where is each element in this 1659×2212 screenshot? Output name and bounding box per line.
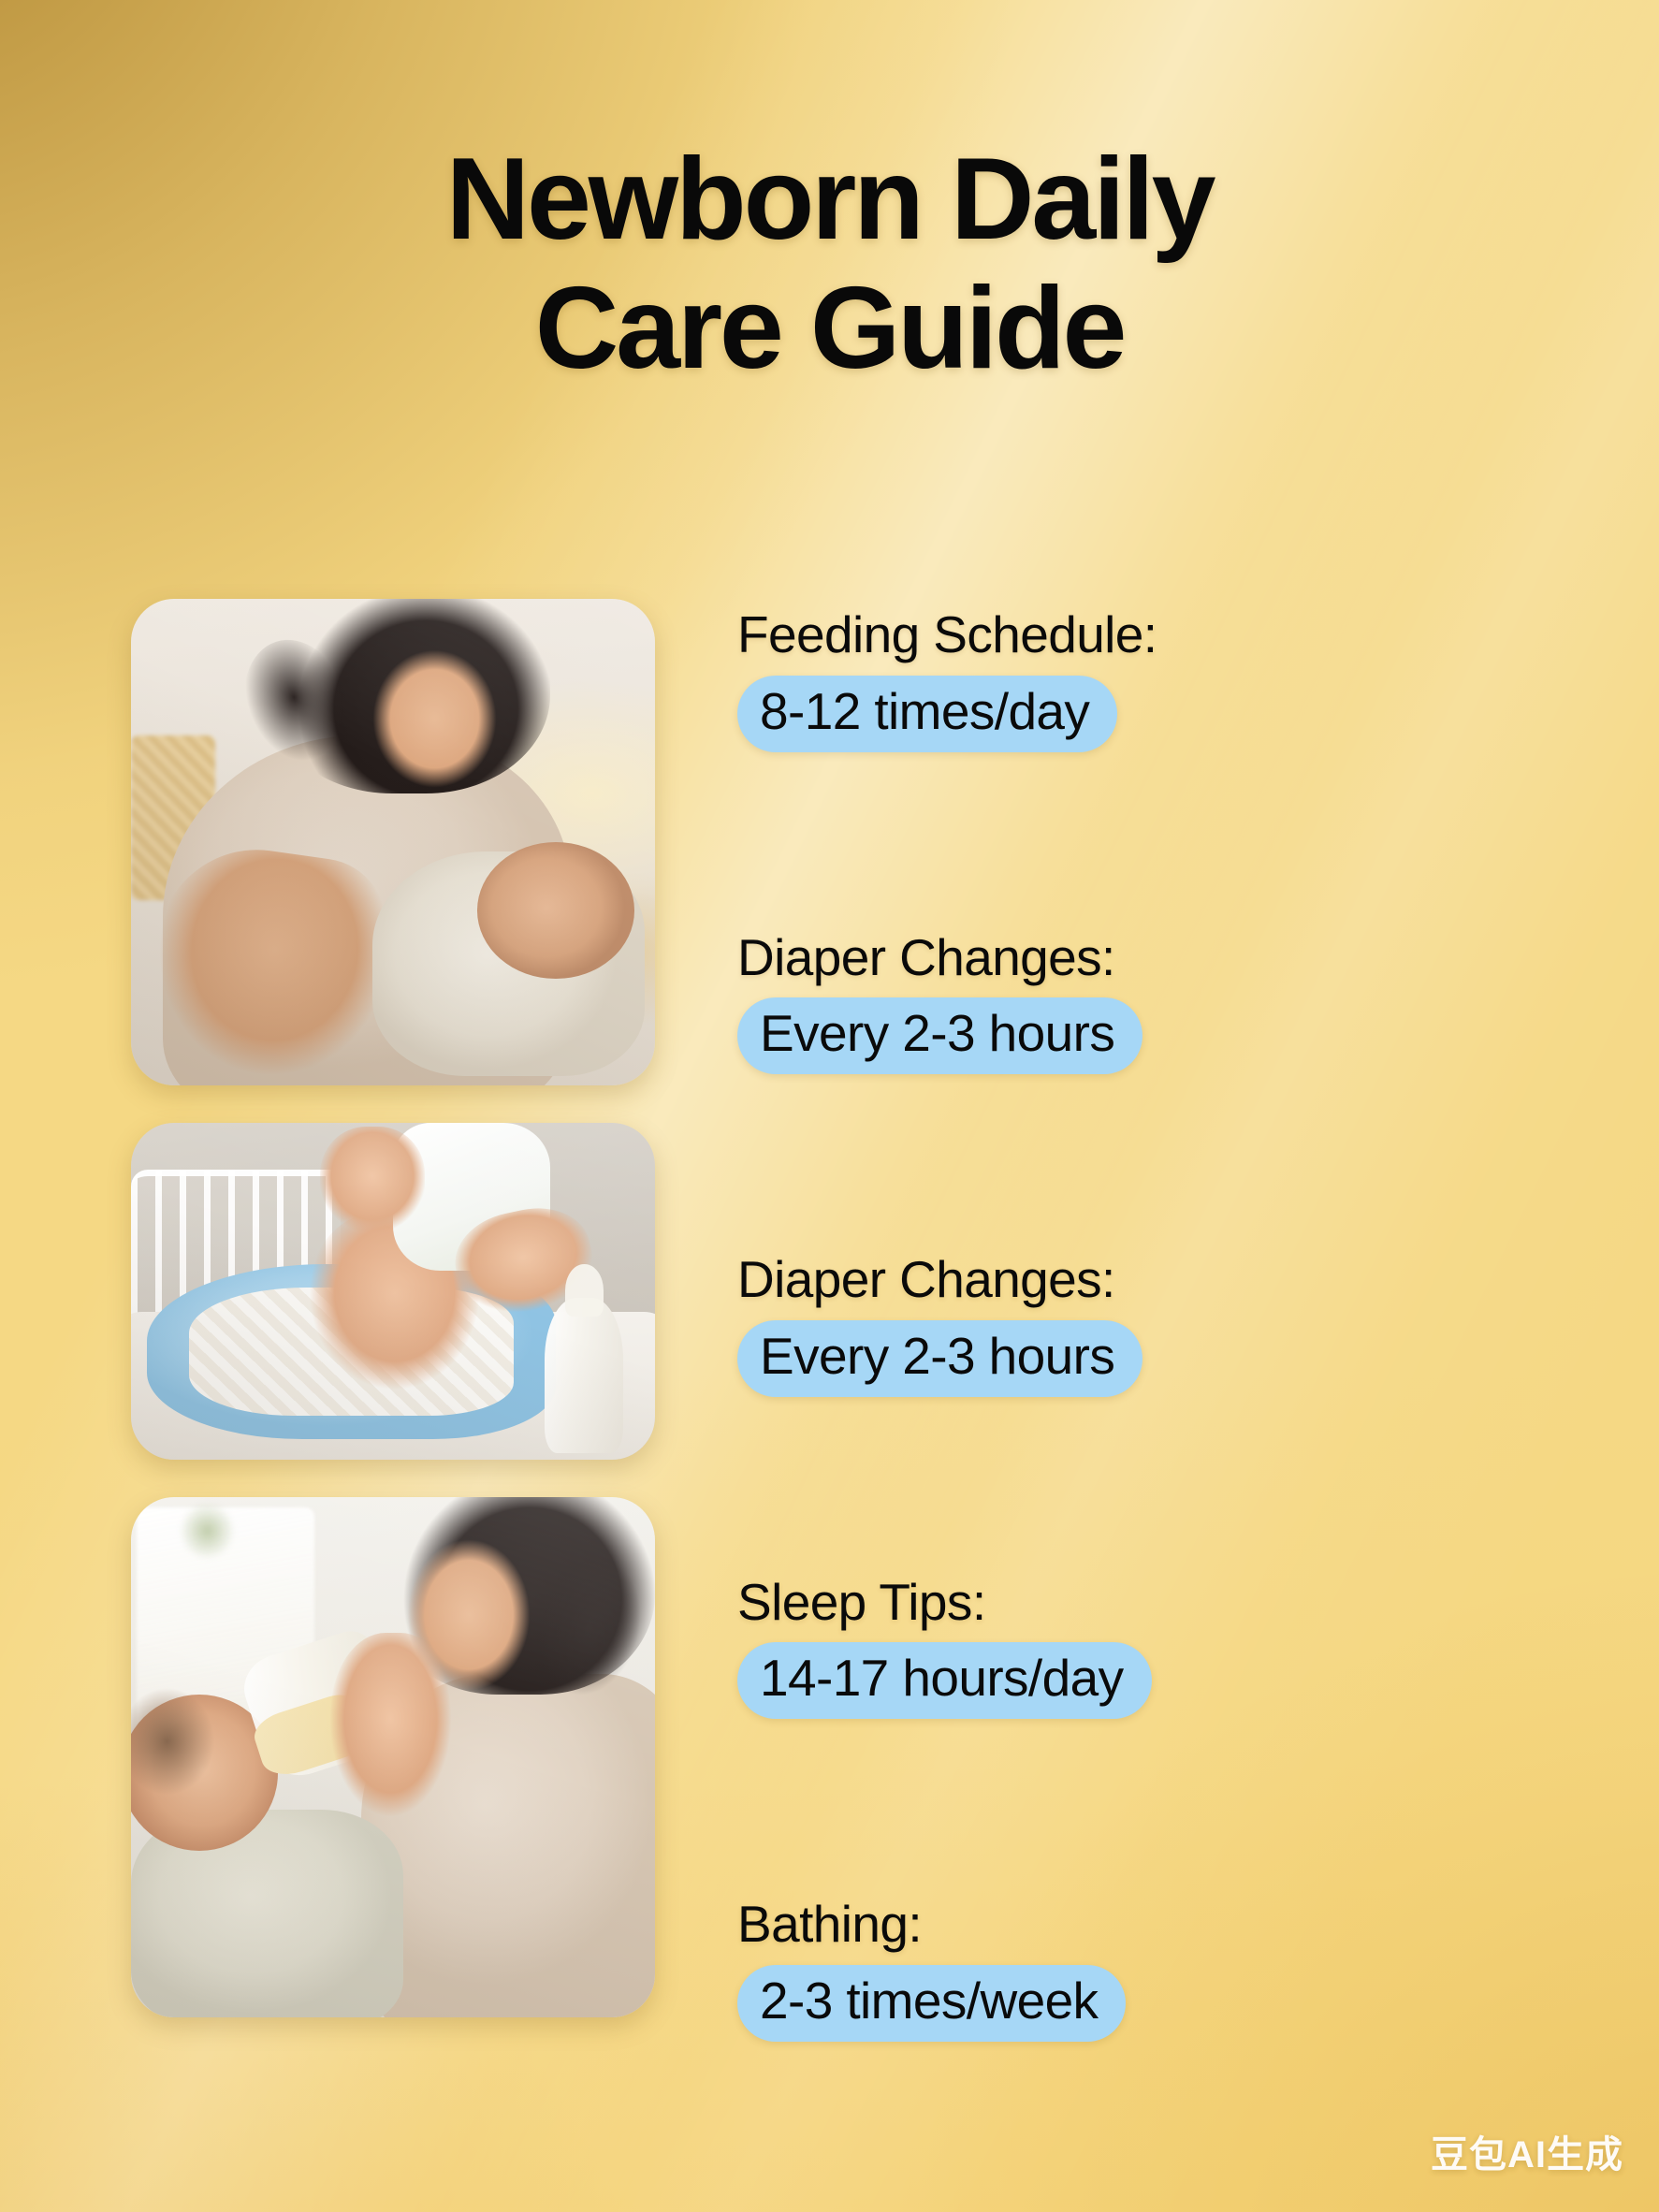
content-area: Feeding Schedule: 8-12 times/day Diaper …: [0, 599, 1659, 2059]
photo-diaper-change: [131, 1123, 655, 1460]
photo-bottle-feeding: [131, 1497, 655, 2017]
fact-label: Diaper Changes:: [737, 1251, 1603, 1309]
fact-label: Diaper Changes:: [737, 929, 1603, 987]
title-line-2: Care Guide: [0, 269, 1659, 387]
fact-item: Diaper Changes: Every 2-3 hours: [737, 1251, 1603, 1397]
fact-label: Sleep Tips:: [737, 1574, 1603, 1632]
photo-shading: [131, 1123, 655, 1460]
fact-value-pill: 14-17 hours/day: [737, 1642, 1152, 1719]
photo-mother-holding-newborn: [131, 599, 655, 1085]
fact-label: Feeding Schedule:: [737, 606, 1603, 664]
page-title: Newborn Daily Care Guide: [0, 140, 1659, 388]
fact-value-pill: Every 2-3 hours: [737, 1320, 1142, 1397]
photo-column: [131, 599, 655, 2059]
photo-shading: [131, 599, 655, 1085]
fact-item: Feeding Schedule: 8-12 times/day: [737, 606, 1603, 752]
fact-label: Bathing:: [737, 1896, 1603, 1954]
fact-value-pill: 8-12 times/day: [737, 676, 1117, 752]
infographic-poster: Newborn Daily Care Guide: [0, 0, 1659, 2212]
fact-item: Diaper Changes: Every 2-3 hours: [737, 929, 1603, 1075]
fact-item: Bathing: 2-3 times/week: [737, 1896, 1603, 2042]
photo-shading: [131, 1497, 655, 2017]
fact-item: Sleep Tips: 14-17 hours/day: [737, 1574, 1603, 1720]
fact-value-pill: Every 2-3 hours: [737, 997, 1142, 1074]
title-line-1: Newborn Daily: [0, 140, 1659, 258]
watermark: 豆包AI生成: [1431, 2124, 1623, 2178]
fact-value-pill: 2-3 times/week: [737, 1965, 1126, 2042]
facts-column: Feeding Schedule: 8-12 times/day Diaper …: [737, 599, 1659, 2059]
